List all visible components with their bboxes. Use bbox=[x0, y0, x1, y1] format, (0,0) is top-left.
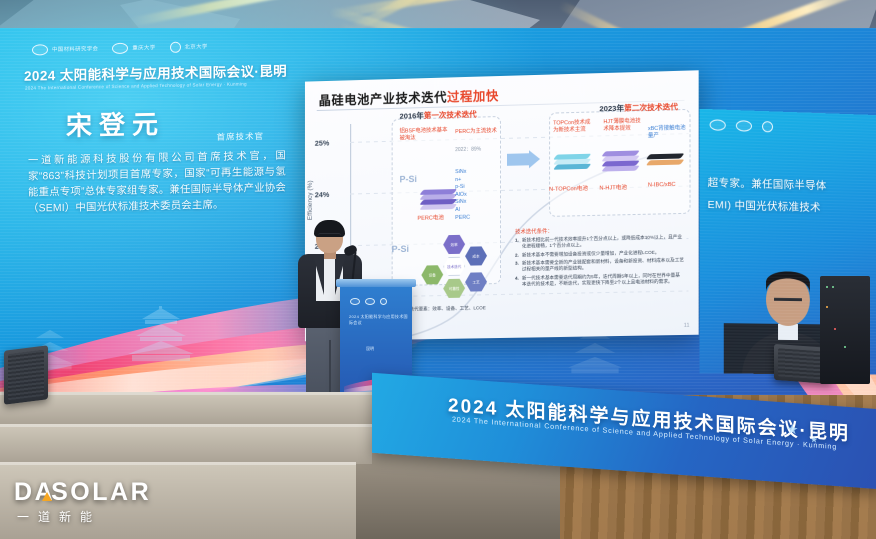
bullet-item: 3.新技术基本需要全新的产业链配套和新材料，设备和新投资、材料成本以及工艺过程相… bbox=[515, 257, 684, 273]
pagoda-silhouette bbox=[118, 306, 204, 364]
perc-cell-diagram bbox=[421, 189, 455, 208]
topcon-cell-diagram bbox=[555, 154, 589, 173]
cqu-mark-icon bbox=[112, 42, 128, 53]
logo-cmrs-label: 中国材料研究学会 bbox=[52, 44, 98, 53]
era-2023-tag-hjt: HJT薄膜电池技术降本提效 bbox=[603, 118, 643, 133]
cqu-mark-icon bbox=[736, 120, 752, 132]
hjt-caption: N-HJT电池 bbox=[599, 183, 627, 192]
era-2023-tag-xbc: xBC背接触电池量产 bbox=[648, 125, 689, 140]
transition-arrow-head bbox=[529, 150, 540, 168]
cqu-mark-icon bbox=[365, 298, 375, 305]
y-tick: 25% bbox=[315, 138, 330, 147]
bullet-item: 4.新一代技术基本需要迭代周期约为5年，迭代周期5年以上，同时在世界中量基本迭代… bbox=[515, 272, 684, 288]
era-2016-label: 2016年第一次技术迭代 bbox=[400, 109, 477, 122]
era-2023-label: 2023年第二次技术迭代 bbox=[599, 101, 678, 114]
hex-node: 设备 bbox=[421, 265, 443, 284]
podium-logos bbox=[350, 298, 387, 305]
transition-arrow-shaft bbox=[507, 153, 529, 166]
xbc-cell-diagram bbox=[648, 153, 682, 172]
triangle-icon bbox=[42, 492, 52, 501]
dasolar-watermark: DASOLAR 一道新能 bbox=[14, 479, 151, 525]
secondary-text-line2: EMI) 中国光伏标准技术 bbox=[708, 194, 875, 220]
hex-node: 效率 bbox=[443, 235, 465, 254]
podium-city: 昆明 bbox=[366, 346, 374, 352]
stage-step bbox=[0, 392, 400, 426]
hex-node: 成本 bbox=[465, 246, 487, 265]
star-icon: ★ bbox=[810, 434, 818, 446]
iteration-hexagon-diagram: 效率 成本 技术迭代 设备 工艺 可靠性 bbox=[415, 234, 495, 301]
podium-top-surface bbox=[336, 279, 416, 287]
logo-peking-university: 北京大学 bbox=[170, 41, 208, 53]
stage-step bbox=[0, 424, 372, 464]
era-2016-tag-2: PERC为主流技术 bbox=[455, 128, 497, 136]
era-2016-tag-1: 铝BSF电池技术基本被淘汰 bbox=[400, 127, 450, 142]
dasolar-brand-cn: 一道新能 bbox=[14, 508, 151, 525]
sponsor-logos: 中国材料研究学会 重庆大学 北京大学 bbox=[18, 33, 310, 61]
perc-stack-labels: SiNxn+p-SiAlOxSiNxAlPERC bbox=[455, 169, 470, 222]
xbc-caption: N-IBC/xBC bbox=[648, 182, 676, 189]
cmrs-mark-icon bbox=[350, 298, 360, 305]
substrate-label-top: P-Si bbox=[400, 174, 417, 184]
brand-rest: SOLAR bbox=[51, 479, 151, 505]
hex-node: 工艺 bbox=[465, 272, 487, 291]
stage-monitor-speaker bbox=[4, 345, 48, 404]
era-2023-tag-topcon: TOPCon技术成为新技术主流 bbox=[553, 119, 595, 134]
av-equipment-rack bbox=[820, 276, 870, 384]
speaker-bio: 一道新能源科技股份有限公司首席技术官，国家“863”科技计划项目首席专家，国家“… bbox=[18, 149, 286, 218]
logo-pku-label: 北京大学 bbox=[185, 42, 208, 50]
slide-title-highlight: 过程加快 bbox=[447, 89, 499, 104]
topcon-caption: N-TOPCon电池 bbox=[549, 184, 588, 193]
perc-cell-caption: PERC电池 bbox=[417, 213, 444, 222]
cmrs-mark-icon bbox=[710, 119, 726, 131]
slide-page-number: 11 bbox=[684, 323, 690, 329]
hex-node: 可靠性 bbox=[443, 279, 465, 298]
dasolar-brand: DASOLAR bbox=[14, 479, 151, 505]
logo-chongqing-university: 重庆大学 bbox=[112, 42, 155, 54]
pku-mark-icon bbox=[170, 41, 181, 52]
logo-cmrs: 中国材料研究学会 bbox=[32, 43, 98, 55]
secondary-screen-logos bbox=[710, 119, 773, 132]
conference-photo: 中国材料研究学会 重庆大学 北京大学 2024 太阳能科学与应用技术国际会议·昆… bbox=[0, 0, 876, 539]
hex-center: 技术迭代 bbox=[443, 257, 465, 276]
hjt-cell-diagram bbox=[603, 151, 637, 170]
slide-title-main: 晶硅电池产业技术迭代 bbox=[319, 90, 447, 108]
pku-mark-icon bbox=[762, 121, 773, 132]
secondary-screen-text: 超专家。兼任国际半导体 EMI) 中国光伏标准技术 bbox=[708, 172, 875, 220]
secondary-text-line1: 超专家。兼任国际半导体 bbox=[708, 172, 875, 199]
y-tick: 24% bbox=[315, 190, 330, 199]
speaker-intro-banner: 中国材料研究学会 重庆大学 北京大学 2024 太阳能科学与应用技术国际会议·昆… bbox=[18, 33, 310, 218]
cmrs-mark-icon bbox=[32, 44, 48, 55]
brand-letter-d: D bbox=[14, 479, 35, 505]
speaker-name: 宋登元 bbox=[18, 101, 310, 144]
y-axis-label: Efficiency (%) bbox=[307, 180, 314, 220]
era-2016-tag-3: 2022：89% bbox=[455, 146, 481, 154]
star-icon: ★ bbox=[786, 420, 799, 438]
slide-bullet-list: 技术迭代条件： 1.新技术相比前一代技术效率提升1个百分点以上，或降低成本10%… bbox=[515, 224, 684, 290]
pku-mark-icon bbox=[380, 298, 387, 305]
substrate-label-bottom: P-Si bbox=[392, 244, 409, 254]
speaker-role: 首席技术官 bbox=[216, 130, 264, 143]
bullet-item: 1.新技术相比前一代技术效率提升1个百分点以上，或降低成本10%以上，且产业化进… bbox=[515, 234, 684, 250]
logo-cqu-label: 重庆大学 bbox=[132, 43, 155, 51]
podium-conference-title: 2024 太阳能科学与应用技术国际会议 bbox=[349, 314, 412, 326]
